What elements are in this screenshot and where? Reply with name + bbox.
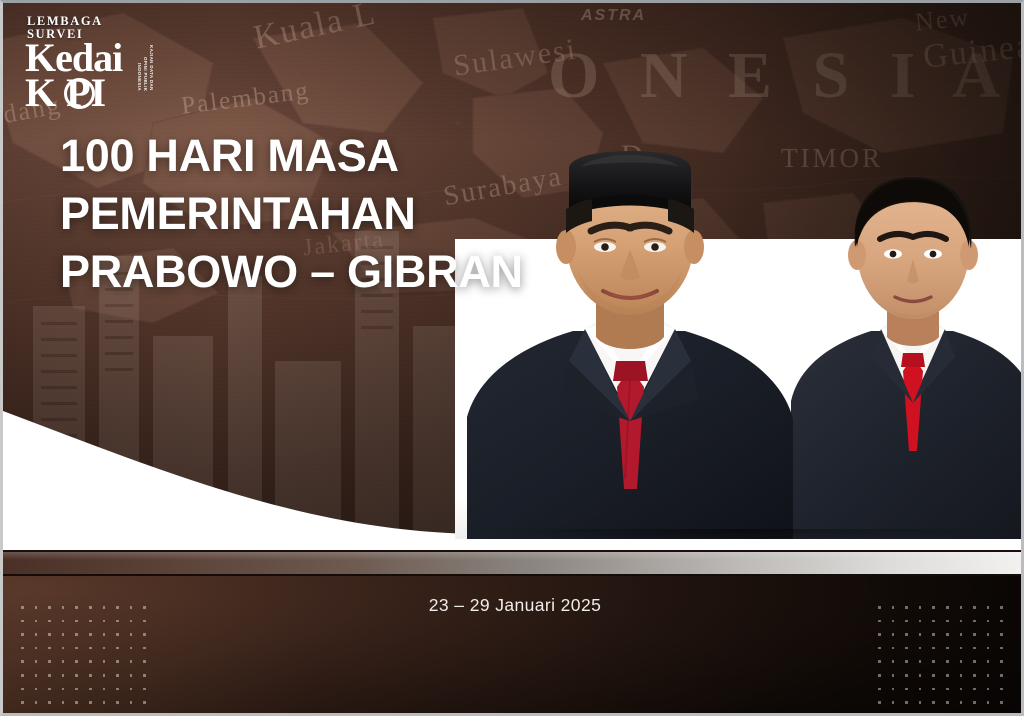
dot — [919, 660, 922, 663]
dot — [75, 633, 78, 636]
dot — [1000, 688, 1003, 691]
dot — [35, 660, 38, 663]
dot — [919, 701, 922, 704]
dot — [919, 647, 922, 650]
dot — [89, 674, 92, 677]
dot — [130, 660, 133, 663]
dot — [878, 660, 881, 663]
logo-side-text: KAJIAN DATA DAN OPINI PUBLIK INDONESIA — [136, 35, 154, 91]
dot — [878, 620, 881, 623]
dot — [130, 701, 133, 704]
dot — [48, 660, 51, 663]
dot — [130, 647, 133, 650]
dot — [75, 647, 78, 650]
dot — [48, 633, 51, 636]
portrait-drop-shadow — [463, 529, 1023, 539]
dot — [130, 688, 133, 691]
dot — [103, 620, 106, 623]
dot — [103, 674, 106, 677]
dot — [905, 660, 908, 663]
dot — [62, 701, 65, 704]
dot — [973, 674, 976, 677]
dot — [905, 620, 908, 623]
dot — [973, 688, 976, 691]
dot — [878, 633, 881, 636]
dot — [116, 674, 119, 677]
dot — [48, 647, 51, 650]
dot — [62, 688, 65, 691]
dot — [1000, 660, 1003, 663]
dot — [946, 647, 949, 650]
dot — [960, 647, 963, 650]
dot — [103, 701, 106, 704]
dot — [21, 633, 24, 636]
coffee-ring-icon — [64, 78, 95, 109]
dot — [62, 647, 65, 650]
dot — [116, 647, 119, 650]
dot — [130, 633, 133, 636]
dot — [89, 647, 92, 650]
dot — [987, 633, 990, 636]
dot — [143, 660, 146, 663]
dot — [932, 674, 935, 677]
dot — [143, 688, 146, 691]
dot — [973, 660, 976, 663]
dot — [932, 647, 935, 650]
dot — [960, 633, 963, 636]
dot — [35, 688, 38, 691]
dot — [143, 620, 146, 623]
dot — [919, 674, 922, 677]
dot — [905, 688, 908, 691]
dot — [946, 633, 949, 636]
dot — [932, 620, 935, 623]
dot — [75, 701, 78, 704]
dot — [1000, 620, 1003, 623]
dot — [35, 620, 38, 623]
dot — [1000, 674, 1003, 677]
dot — [89, 701, 92, 704]
dot — [62, 660, 65, 663]
dot — [987, 660, 990, 663]
dot — [62, 633, 65, 636]
dot — [960, 688, 963, 691]
dot — [116, 633, 119, 636]
dot — [905, 647, 908, 650]
dot — [960, 674, 963, 677]
title-line-1: 100 HARI MASA — [60, 127, 620, 185]
dot — [905, 701, 908, 704]
dot — [48, 701, 51, 704]
dot — [973, 633, 976, 636]
kedai-kopi-logo[interactable]: LEMBAGA SURVEI Kedai K PI KAJIAN DATA DA… — [17, 13, 152, 91]
dot — [892, 701, 895, 704]
dot — [21, 647, 24, 650]
dot — [946, 701, 949, 704]
dot — [987, 647, 990, 650]
dot — [878, 674, 881, 677]
dot — [960, 660, 963, 663]
dot — [103, 647, 106, 650]
dot — [973, 647, 976, 650]
dot — [878, 647, 881, 650]
dot — [946, 688, 949, 691]
dot — [987, 688, 990, 691]
dot — [932, 660, 935, 663]
dot — [919, 688, 922, 691]
date-range-label: 23 – 29 Januari 2025 — [3, 595, 1024, 616]
dot — [21, 701, 24, 704]
dot — [103, 660, 106, 663]
dot — [973, 620, 976, 623]
presentation-slide: Kuala L Palembang Sulawesi Surabaya O N … — [0, 0, 1024, 716]
dot — [892, 674, 895, 677]
dot — [116, 660, 119, 663]
dot — [919, 620, 922, 623]
dot — [103, 633, 106, 636]
dot — [1000, 633, 1003, 636]
dot — [130, 674, 133, 677]
dot — [62, 674, 65, 677]
dot — [919, 633, 922, 636]
dot — [21, 660, 24, 663]
dot — [987, 701, 990, 704]
dot — [89, 620, 92, 623]
dot — [892, 660, 895, 663]
dot — [143, 633, 146, 636]
dot — [35, 633, 38, 636]
title-line-3: PRABOWO – GIBRAN — [60, 243, 620, 301]
dot — [143, 647, 146, 650]
dot — [48, 620, 51, 623]
dot — [75, 688, 78, 691]
dot — [103, 688, 106, 691]
dot — [892, 633, 895, 636]
dot — [946, 674, 949, 677]
dot — [946, 620, 949, 623]
dot — [987, 674, 990, 677]
dot — [932, 701, 935, 704]
portrait-gibran — [785, 151, 1024, 539]
dot — [1000, 701, 1003, 704]
dot — [35, 647, 38, 650]
dot — [932, 688, 935, 691]
dot — [75, 674, 78, 677]
dot — [143, 701, 146, 704]
dot — [892, 688, 895, 691]
dot — [116, 688, 119, 691]
dot — [89, 633, 92, 636]
dot — [892, 647, 895, 650]
dot — [143, 674, 146, 677]
divider-highlight — [3, 552, 1024, 560]
dot — [932, 633, 935, 636]
divider-bar — [3, 550, 1024, 576]
dot-grid-left — [21, 606, 146, 716]
dot — [75, 620, 78, 623]
dot — [62, 620, 65, 623]
dot-grid-right — [878, 606, 1003, 716]
dot — [905, 633, 908, 636]
dot — [946, 660, 949, 663]
dot — [116, 620, 119, 623]
dot — [48, 688, 51, 691]
dot — [960, 620, 963, 623]
dot — [892, 620, 895, 623]
dot — [48, 674, 51, 677]
page-title: 100 HARI MASA PEMERINTAHAN PRABOWO – GIB… — [60, 127, 620, 301]
dot — [89, 688, 92, 691]
title-line-2: PEMERINTAHAN — [60, 185, 620, 243]
dot — [21, 688, 24, 691]
dot — [35, 674, 38, 677]
dot — [960, 701, 963, 704]
dot — [75, 660, 78, 663]
dot — [21, 674, 24, 677]
dot — [35, 701, 38, 704]
dot — [973, 701, 976, 704]
dot — [878, 688, 881, 691]
logo-word-kopi-wrap: K PI — [25, 73, 152, 107]
dot — [130, 620, 133, 623]
dot — [905, 674, 908, 677]
dot — [21, 620, 24, 623]
dot — [878, 701, 881, 704]
dot — [89, 660, 92, 663]
dot — [116, 701, 119, 704]
dot — [987, 620, 990, 623]
dot — [1000, 647, 1003, 650]
